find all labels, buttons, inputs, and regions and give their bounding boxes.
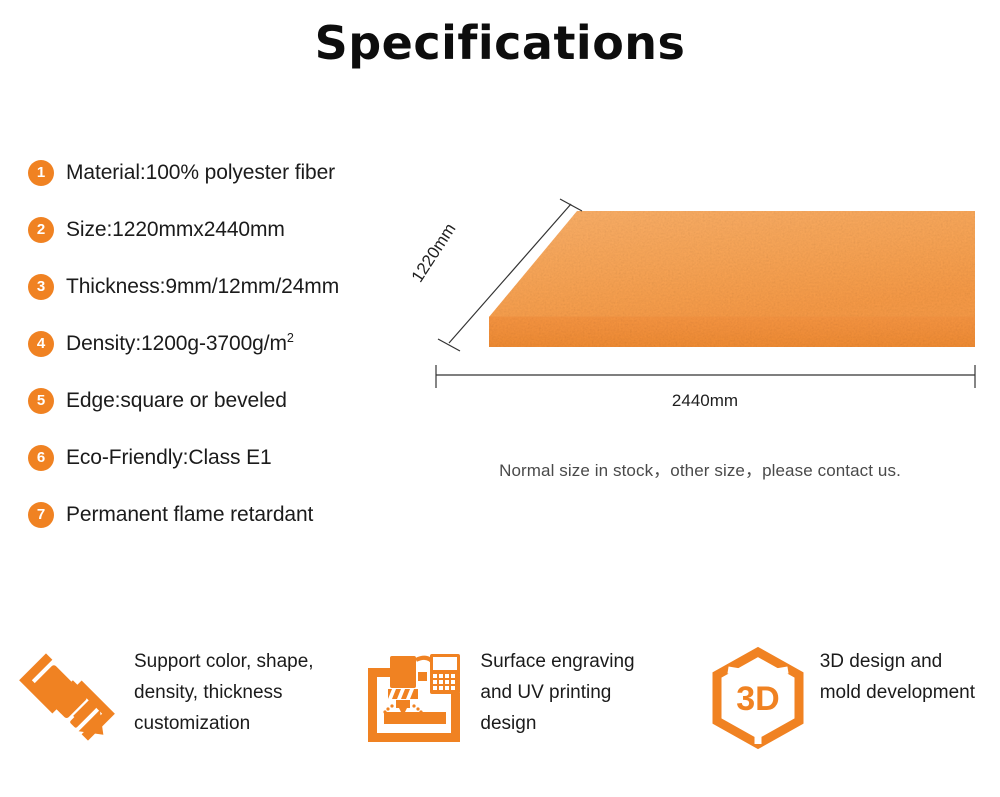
spec-label-superscript: 2 — [287, 331, 294, 345]
feature-line: mold development — [820, 677, 975, 708]
feature-label: Surface engraving and UV printing design — [480, 646, 634, 739]
acoustic-panel-diagram: 1220mm 2440mm — [405, 195, 990, 445]
feature-line: design — [480, 708, 634, 739]
spec-label: Size:1220mmx2440mm — [66, 218, 285, 242]
width-dimension-line — [436, 365, 975, 388]
list-item: 3 Thickness:9mm/12mm/24mm — [28, 272, 428, 302]
spec-number-badge: 3 — [28, 274, 54, 300]
spec-number-badge: 6 — [28, 445, 54, 471]
page-title: Specifications — [0, 16, 1000, 70]
feature-line: Support color, shape, — [134, 646, 314, 677]
feature-3d-design: 3D 3D design and mold development — [706, 640, 1000, 780]
spec-label: Eco-Friendly:Class E1 — [66, 446, 272, 470]
list-item: 6 Eco-Friendly:Class E1 — [28, 443, 428, 473]
feature-customization: Support color, shape, density, thickness… — [0, 640, 354, 780]
spec-label: Thickness:9mm/12mm/24mm — [66, 275, 339, 299]
list-item: 5 Edge:square or beveled — [28, 386, 428, 416]
list-item: 1 Material:100% polyester fiber — [28, 158, 428, 188]
feature-engraving: Surface engraving and UV printing design — [354, 640, 705, 780]
feature-label: 3D design and mold development — [820, 646, 975, 708]
spec-number-badge: 2 — [28, 217, 54, 243]
spec-number-badge: 4 — [28, 331, 54, 357]
list-item: 4 Density:1200g-3700g/m2 — [28, 329, 428, 359]
feature-line: and UV printing — [480, 677, 634, 708]
list-item: 2 Size:1220mmx2440mm — [28, 215, 428, 245]
3d-cube-label: 3D — [736, 680, 779, 718]
spec-label: Material:100% polyester fiber — [66, 161, 335, 185]
spec-label: Permanent flame retardant — [66, 503, 313, 527]
board-caption: Normal size in stock，other size，please c… — [405, 456, 995, 481]
spec-label: Edge:square or beveled — [66, 389, 287, 413]
feature-line: customization — [134, 708, 314, 739]
spec-label: Density:1200g-3700g/m2 — [66, 332, 294, 356]
panel-front-edge — [489, 317, 975, 347]
feature-row: Support color, shape, density, thickness… — [0, 640, 1000, 780]
feature-line: 3D design and — [820, 646, 975, 677]
spec-number-badge: 1 — [28, 160, 54, 186]
cnc-engraver-icon — [362, 646, 466, 750]
spec-label-main: Density:1200g-3700g/m — [66, 332, 287, 355]
width-dimension-label: 2440mm — [405, 391, 1000, 411]
specifications-list: 1 Material:100% polyester fiber 2 Size:1… — [28, 158, 428, 557]
feature-line: Surface engraving — [480, 646, 634, 677]
feature-line: density, thickness — [134, 677, 314, 708]
list-item: 7 Permanent flame retardant — [28, 500, 428, 530]
panel-top-face — [489, 211, 975, 317]
spec-number-badge: 7 — [28, 502, 54, 528]
3d-cube-icon: 3D — [706, 646, 810, 750]
spec-number-badge: 5 — [28, 388, 54, 414]
pencil-ruler-icon — [16, 646, 120, 750]
feature-label: Support color, shape, density, thickness… — [134, 646, 314, 739]
